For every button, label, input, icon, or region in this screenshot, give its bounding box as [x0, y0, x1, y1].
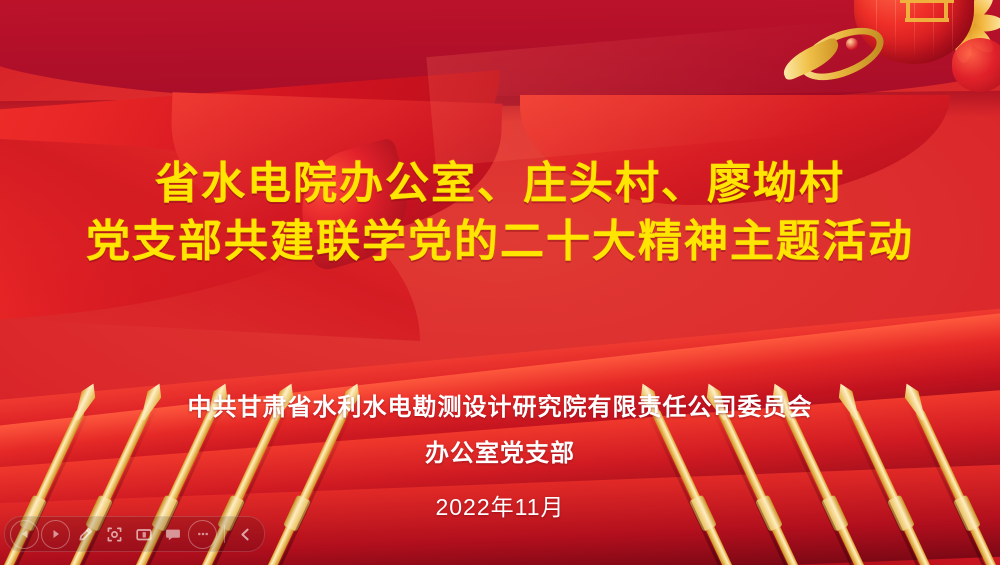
screen-icon: [135, 526, 153, 543]
presentation-toolbar[interactable]: [4, 516, 265, 552]
organization-line-2: 办公室党支部: [0, 431, 1000, 477]
slide-title-line-2: 党支部共建联学党的二十大精神主题活动: [0, 213, 1000, 271]
chinese-lantern-secondary-icon: [952, 38, 1000, 92]
lantern-decoration-group: [810, 0, 1000, 136]
collapse-button[interactable]: [232, 521, 259, 548]
target-icon: [106, 526, 123, 543]
organization-block: 中共甘肃省水利水电勘测设计研究院有限责任公司委员会 办公室党支部: [0, 385, 1000, 477]
slide-title-line-1: 省水电院办公室、庄头村、廖坳村: [0, 155, 1000, 213]
previous-slide-button[interactable]: [10, 520, 39, 549]
lantern-fu-glyph: [894, 0, 960, 30]
pen-button[interactable]: [72, 521, 99, 548]
triangle-right-icon: [49, 527, 63, 541]
triangle-left-icon: [18, 527, 32, 541]
chevron-left-icon: [237, 526, 254, 543]
slide-title: 省水电院办公室、庄头村、廖坳村 党支部共建联学党的二十大精神主题活动: [0, 155, 1000, 271]
gold-tassel-knob: [846, 38, 858, 50]
notes-button[interactable]: [159, 521, 186, 548]
pen-icon: [77, 526, 94, 543]
laser-pointer-button[interactable]: [101, 521, 128, 548]
next-slide-button[interactable]: [41, 520, 70, 549]
slide-view-button[interactable]: [130, 521, 157, 548]
comment-icon: [164, 526, 182, 543]
toolbar-divider: [224, 525, 225, 543]
more-options-button[interactable]: [188, 520, 217, 549]
organization-line-1: 中共甘肃省水利水电勘测设计研究院有限责任公司委员会: [0, 385, 1000, 431]
ellipsis-icon: [195, 526, 211, 542]
presentation-slide: 省水电院办公室、庄头村、廖坳村 党支部共建联学党的二十大精神主题活动 中共甘肃省…: [0, 0, 1000, 565]
